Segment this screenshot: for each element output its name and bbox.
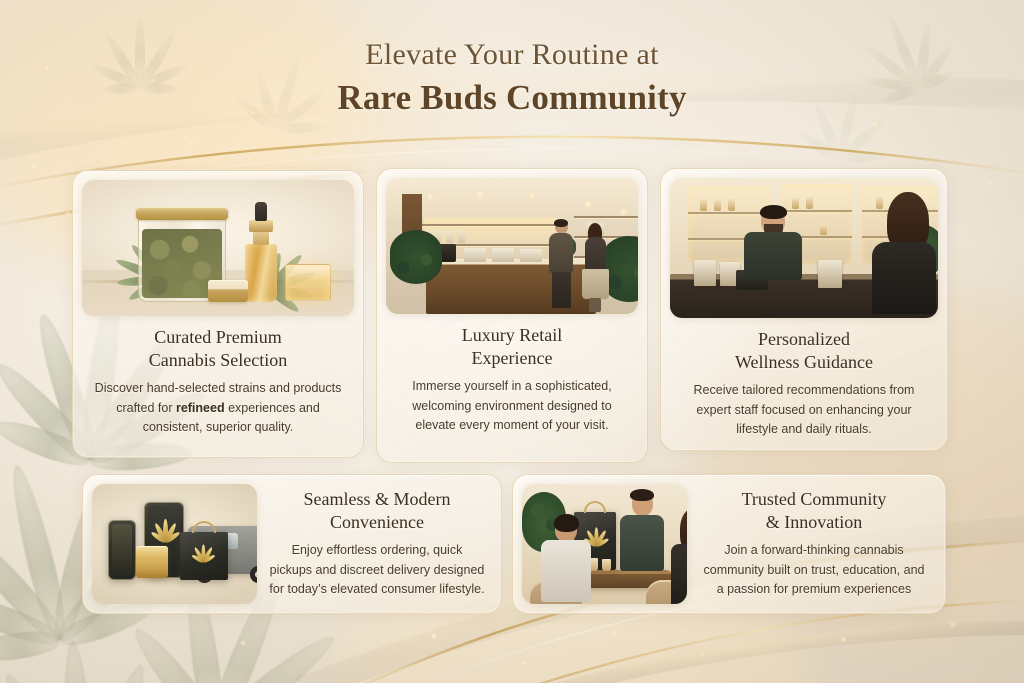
jar-lid [136, 207, 228, 220]
customer-figure-female [582, 224, 608, 308]
header-kicker: Elevate Your Routine at [0, 38, 1024, 72]
card-image-cannabis-products [82, 180, 354, 316]
page-title: Rare Buds Community [0, 78, 1024, 118]
card-text-block: Personalized Wellness Guidance Receive t… [661, 318, 947, 451]
card-description: Immerse yourself in a sophisticated, wel… [391, 377, 633, 436]
potted-plant [390, 230, 442, 284]
bag-handle [584, 501, 606, 513]
gold-jar-illustration [136, 546, 168, 578]
product-jar [700, 198, 707, 211]
display-shelf [422, 224, 564, 226]
card-text-block: Trusted Community & Innovation Join a fo… [687, 475, 945, 613]
card-title: Luxury Retail Experience [391, 324, 633, 370]
smartphone-illustration [108, 520, 136, 580]
hair [630, 489, 654, 501]
card-text-block: Seamless & Modern Convenience Enjoy effo… [257, 475, 501, 613]
cannabis-leaf-icon [195, 549, 211, 562]
tablet-display [818, 260, 842, 288]
product-jar [806, 196, 813, 209]
torso [549, 233, 573, 273]
feature-card-seamless-modern-convenience[interactable]: Seamless & Modern Convenience Enjoy effo… [82, 474, 502, 614]
hair [760, 205, 787, 219]
dropper-bottle-illustration [245, 244, 277, 302]
card-title: Trusted Community & Innovation [699, 488, 929, 534]
bokeh-sparkle [520, 660, 526, 666]
uniform-shirt [744, 232, 802, 280]
card-title-line2: Experience [472, 348, 553, 368]
poster-header: Elevate Your Routine at Rare Buds Commun… [0, 38, 1024, 118]
cannabis-leaf-icon [0, 632, 200, 683]
feature-card-trusted-community-innovation[interactable]: Trusted Community & Innovation Join a fo… [512, 474, 946, 614]
card-description: Enjoy effortless ordering, quick pickups… [269, 541, 485, 600]
bokeh-sparkle [430, 632, 438, 640]
budtender-figure [742, 202, 804, 292]
feature-card-luxury-retail-experience[interactable]: Luxury Retail Experience Immerse yoursel… [376, 168, 648, 463]
bokeh-sparkle [64, 210, 72, 218]
van-wheel [250, 566, 257, 583]
torso [671, 544, 687, 604]
card-title-line1: Trusted Community [742, 489, 887, 509]
cup-illustration [602, 559, 611, 571]
product-jar [446, 231, 453, 243]
card-description-highlight: refineed [176, 401, 225, 415]
bokeh-sparkle [96, 122, 102, 128]
card-title-line2: Cannabis Selection [149, 350, 287, 370]
bokeh-sparkle [700, 652, 705, 657]
card-title-line2: Wellness Guidance [735, 352, 873, 372]
vest [620, 515, 664, 571]
candle-illustration [285, 264, 331, 301]
torso [541, 540, 591, 602]
card-description: Receive tailored recommendations from ex… [675, 381, 933, 440]
bokeh-sparkle [610, 628, 620, 638]
hair [554, 219, 568, 227]
concentrate-tin-illustration [208, 280, 248, 302]
cannabis-leaf-icon [152, 520, 178, 542]
product-jar [714, 199, 721, 211]
torso [585, 237, 606, 271]
community-figure-center [618, 488, 666, 582]
card-title-line1: Curated Premium [154, 327, 281, 347]
product-jar [820, 223, 827, 235]
card-image-community-gathering [522, 484, 687, 604]
card-title: Seamless & Modern Convenience [269, 488, 485, 534]
pos-terminal [520, 249, 542, 262]
pos-terminal [464, 248, 486, 262]
card-title-line2: Convenience [330, 512, 424, 532]
card-title: Curated Premium Cannabis Selection [87, 326, 349, 372]
legs [589, 298, 601, 312]
torso [872, 242, 936, 314]
bokeh-sparkle [840, 636, 847, 643]
feature-card-curated-premium-cannabis-selection[interactable]: Curated Premium Cannabis Selection Disco… [72, 170, 364, 458]
bokeh-sparkle [240, 640, 246, 646]
skirt [582, 269, 609, 299]
bokeh-sparkle [188, 140, 195, 147]
card-text-block: Luxury Retail Experience Immerse yoursel… [377, 314, 647, 448]
community-figure-right [668, 508, 687, 604]
legs [552, 272, 571, 308]
bokeh-sparkle [948, 620, 957, 629]
customer-figure [868, 192, 938, 318]
card-text-block: Curated Premium Cannabis Selection Disco… [73, 316, 363, 450]
tablet-display [694, 260, 716, 286]
pos-terminal [492, 248, 514, 262]
bokeh-sparkle [870, 120, 879, 129]
bag-handle [192, 521, 216, 533]
card-title-line1: Personalized [758, 329, 850, 349]
card-image-budtender-consultation [670, 178, 938, 318]
customer-figure-male [548, 220, 574, 308]
card-description: Join a forward-thinking cannabis communi… [699, 541, 929, 600]
card-title: Personalized Wellness Guidance [675, 328, 933, 374]
feature-card-personalized-wellness-guidance[interactable]: Personalized Wellness Guidance Receive t… [660, 168, 948, 451]
product-jar [458, 230, 465, 243]
promotional-poster: Elevate Your Routine at Rare Buds Commun… [0, 0, 1024, 683]
card-title-line1: Seamless & Modern [304, 489, 451, 509]
card-title-line1: Luxury Retail [462, 325, 562, 345]
community-figure-left [538, 514, 594, 604]
card-title-line2: & Innovation [766, 512, 863, 532]
bokeh-sparkle [986, 180, 993, 187]
card-image-delivery-and-ordering [92, 484, 257, 604]
card-description: Discover hand-selected strains and produ… [87, 379, 349, 438]
hair [554, 514, 579, 532]
product-jar [728, 198, 735, 211]
bokeh-sparkle [28, 160, 40, 172]
card-image-retail-interior [386, 178, 638, 314]
display-shelf [574, 216, 638, 218]
